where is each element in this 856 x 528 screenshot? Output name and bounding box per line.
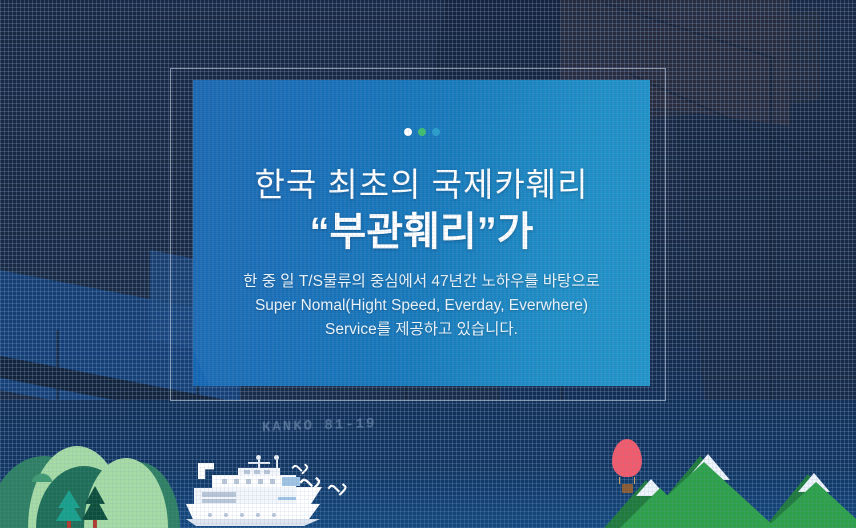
hero-title-line-1: 한국 최초의 국제카훼리 (193, 164, 650, 205)
slide-dot-2[interactable] (418, 128, 426, 136)
slide-indicator-dots[interactable] (193, 128, 650, 136)
hero-card: 한국 최초의 국제카훼리 “부관훼리”가 한 중 일 T/S물류의 중심에서 4… (193, 80, 650, 386)
hero-description-line-3: Service를 제공하고 있습니다. (193, 318, 650, 342)
hero-title-line-2: “부관훼리”가 (193, 207, 650, 257)
hero-description: 한 중 일 T/S물류의 중심에서 47년간 노하우를 바탕으로 Super N… (193, 270, 650, 342)
hero-description-line-1: 한 중 일 T/S물류의 중심에서 47년간 노하우를 바탕으로 (193, 270, 650, 294)
slide-dot-1[interactable] (404, 128, 412, 136)
hero-description-line-2: Super Nomal(Hight Speed, Everday, Everwh… (193, 294, 650, 318)
hero-title: 한국 최초의 국제카훼리 “부관훼리”가 (193, 164, 650, 257)
slide-dot-3[interactable] (432, 128, 440, 136)
hero-banner: KANKO 81-19 한국 최초의 국제카훼리 “부관훼리”가 한 중 일 T… (0, 0, 856, 528)
